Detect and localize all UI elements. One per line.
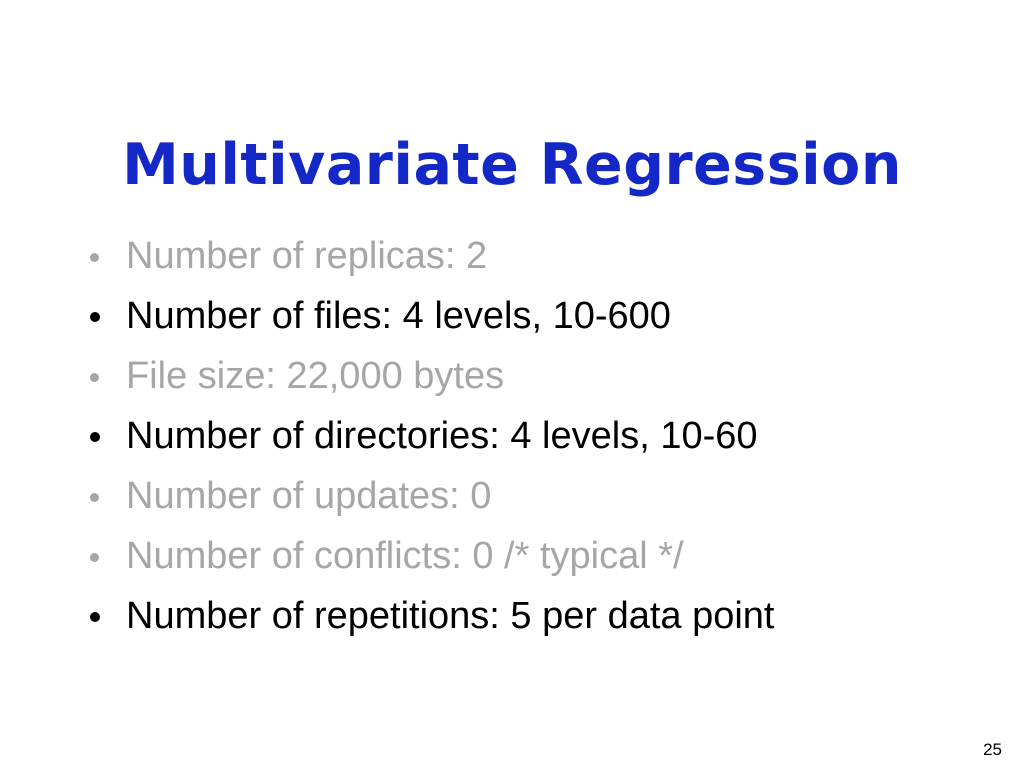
- list-item-label: File size: 22,000 bytes: [126, 355, 504, 397]
- slide-number: 25: [983, 740, 1002, 760]
- list-item: File size: 22,000 bytes: [84, 346, 984, 406]
- list-item-label: Number of directories: 4 levels, 10-60: [126, 415, 758, 457]
- list-item-label: Number of replicas: 2: [126, 235, 487, 277]
- list-item: Number of directories: 4 levels, 10-60: [84, 406, 984, 466]
- bullet-dot-icon: [90, 373, 99, 382]
- slide-canvas: Multivariate Regression Number of replic…: [0, 0, 1024, 768]
- bullet-list: Number of replicas: 2 Number of files: 4…: [84, 226, 984, 646]
- list-item: Number of repetitions: 5 per data point: [84, 586, 984, 646]
- bullet-dot-icon: [90, 312, 100, 322]
- list-item-label: Number of updates: 0: [126, 475, 491, 517]
- list-item: Number of files: 4 levels, 10-600: [84, 286, 984, 346]
- bullet-dot-icon: [90, 553, 99, 562]
- bullet-dot-icon: [90, 253, 99, 262]
- list-item: Number of replicas: 2: [84, 226, 984, 286]
- list-item: Number of updates: 0: [84, 466, 984, 526]
- list-item-label: Number of repetitions: 5 per data point: [126, 595, 775, 637]
- list-item-label: Number of files: 4 levels, 10-600: [126, 295, 671, 337]
- bullet-dot-icon: [90, 493, 99, 502]
- bullet-dot-icon: [90, 432, 100, 442]
- list-item-label: Number of conflicts: 0 /* typical */: [126, 535, 684, 577]
- page-title: Multivariate Regression: [0, 130, 1024, 200]
- bullet-dot-icon: [90, 612, 100, 622]
- list-item: Number of conflicts: 0 /* typical */: [84, 526, 984, 586]
